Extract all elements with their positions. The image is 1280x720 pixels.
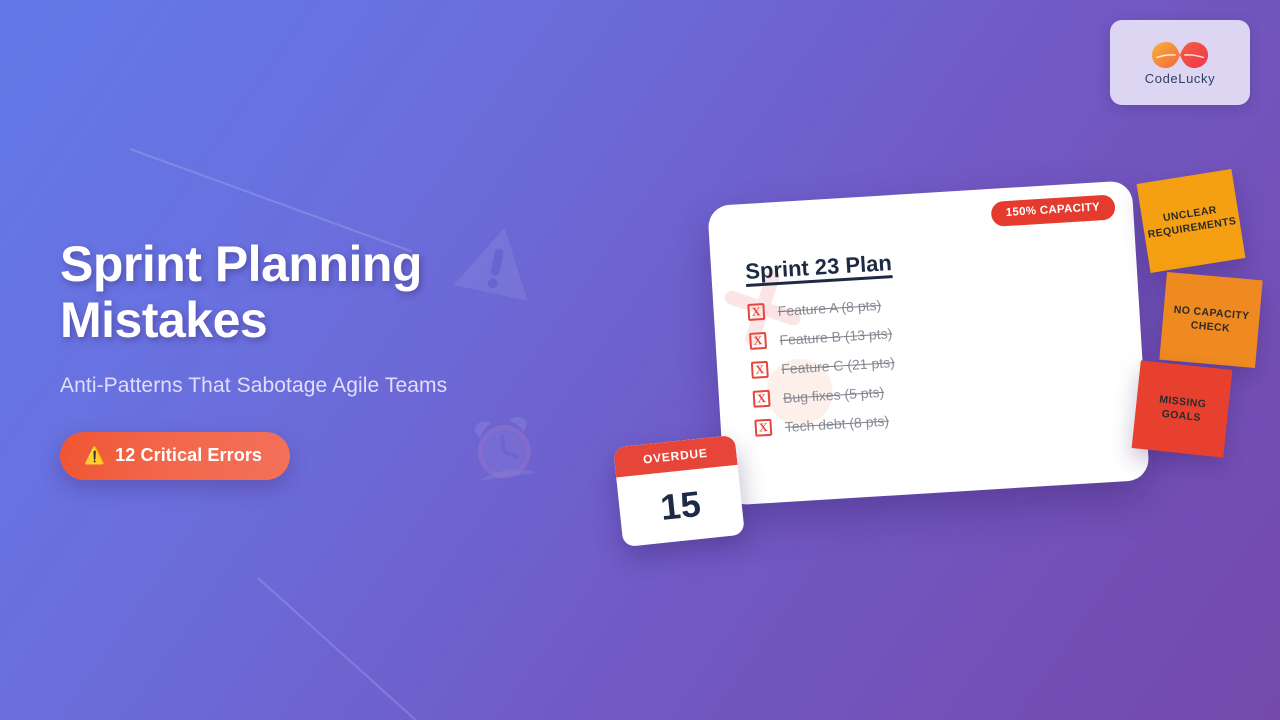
checkbox-x-icon[interactable]: X (751, 361, 769, 379)
infinity-leaf-logo-icon (1151, 40, 1209, 70)
checkbox-x-icon[interactable]: X (753, 390, 771, 408)
page-title: Sprint Planning Mistakes (60, 236, 460, 348)
brand-name-label: CodeLucky (1145, 71, 1215, 86)
sticky-note-unclear-requirements[interactable]: UNCLEAR REQUIREMENTS (1137, 169, 1246, 273)
overdue-calendar: OVERDUE 15 (613, 435, 745, 547)
sprint-backlog-list: X Feature A (8 pts) X Feature B (13 pts)… (747, 284, 1085, 449)
decor-diagonal-line-2 (257, 577, 418, 720)
warning-triangle-icon: ⚠️ (84, 447, 105, 464)
sprint-plan-title: Sprint 23 Plan (745, 250, 893, 285)
slide-canvas: CodeLucky Sprint Planning Mistakes Anti-… (0, 0, 1280, 720)
sticky-note-missing-goals[interactable]: MISSING GOALS (1132, 360, 1233, 457)
backlog-item-label: Feature B (13 pts) (779, 325, 893, 348)
critical-errors-badge[interactable]: ⚠️ 12 Critical Errors (60, 432, 290, 480)
calendar-day-number: 15 (616, 465, 745, 547)
page-subtitle: Anti-Patterns That Sabotage Agile Teams (60, 374, 620, 398)
hero-block: Sprint Planning Mistakes Anti-Patterns T… (60, 236, 620, 480)
critical-errors-label: 12 Critical Errors (115, 445, 262, 466)
capacity-badge: 150% CAPACITY (990, 194, 1116, 227)
checkbox-x-icon[interactable]: X (749, 332, 767, 350)
sprint-plan-card[interactable]: 150% CAPACITY Sprint 23 Plan X Feature A… (707, 180, 1150, 505)
backlog-item-label: Feature C (21 pts) (781, 354, 895, 377)
checkbox-x-icon[interactable]: X (754, 419, 772, 437)
checkbox-x-icon[interactable]: X (747, 303, 765, 321)
sticky-note-text: UNCLEAR REQUIREMENTS (1145, 200, 1238, 242)
backlog-item-label: Bug fixes (5 pts) (783, 383, 885, 405)
backlog-item-label: Tech debt (8 pts) (784, 412, 889, 434)
brand-logo-chip: CodeLucky (1110, 20, 1250, 105)
sticky-note-text: NO CAPACITY CHECK (1172, 303, 1250, 338)
sticky-note-text: MISSING GOALS (1143, 391, 1222, 427)
backlog-item-label: Feature A (8 pts) (777, 296, 881, 318)
list-item[interactable]: X Tech debt (8 pts) (754, 400, 1084, 437)
sticky-note-no-capacity-check[interactable]: NO CAPACITY CHECK (1159, 272, 1262, 368)
